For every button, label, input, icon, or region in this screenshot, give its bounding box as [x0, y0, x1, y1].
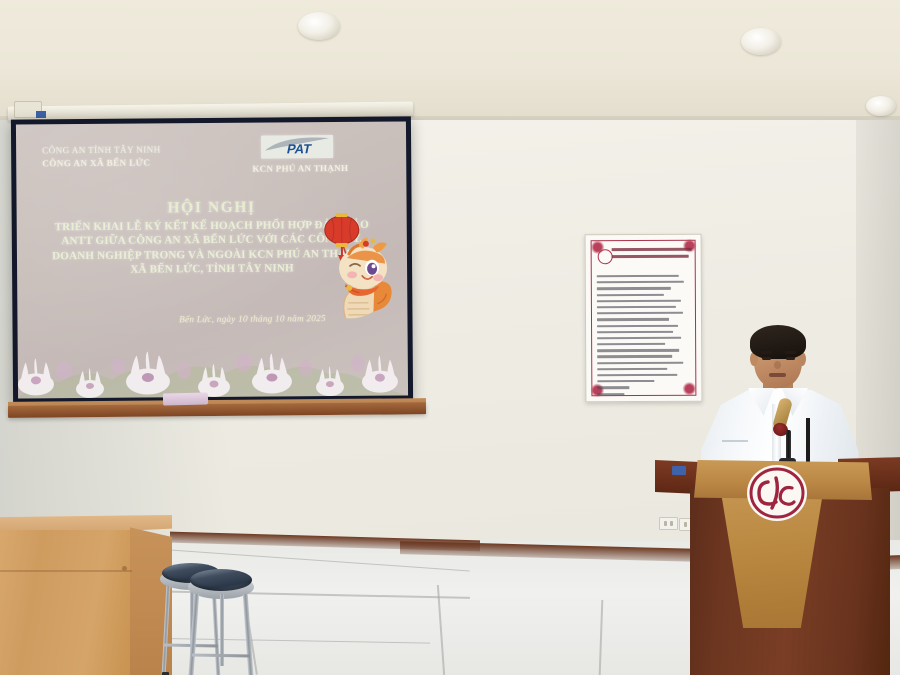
speaker-eye-left	[762, 357, 771, 360]
slide-logo-caption: KCN PHÚ AN THẠNH	[238, 163, 362, 174]
clc-logo-icon	[746, 464, 808, 522]
poster-body-text	[597, 275, 693, 399]
podium-sticker	[672, 466, 686, 475]
conference-room-photo: CÔNG AN TỈNH TÂY NINH CÔNG AN XÃ BẾN LỨC…	[0, 0, 900, 675]
svg-text:PAT: PAT	[286, 141, 313, 156]
lotus-decoration	[18, 323, 409, 398]
roller-label	[36, 111, 46, 118]
shirt-pocket	[722, 440, 748, 442]
desk-drawer-seam	[0, 570, 132, 572]
slide-org-header: CÔNG AN TỈNH TÂY NINH CÔNG AN XÃ BẾN LỨC	[42, 143, 242, 170]
speaker-eye-right	[786, 357, 795, 360]
microphone-rod-secondary	[806, 418, 810, 468]
power-outlet[interactable]	[659, 517, 678, 530]
wooden-desk-front	[0, 530, 132, 675]
desk-knob[interactable]	[122, 566, 127, 571]
poster-title	[612, 248, 692, 261]
speaker-hair	[750, 325, 806, 359]
cleaning-cloth	[163, 392, 208, 405]
speaker-mouth	[769, 373, 786, 377]
speaker-eyebrow-right	[785, 351, 796, 354]
poster-seal-icon	[598, 249, 613, 264]
stool-seat	[190, 569, 252, 591]
pat-logo-icon: PAT	[261, 135, 333, 159]
downlight-icon	[298, 12, 340, 40]
downlight-icon	[866, 96, 896, 116]
downlight-icon	[741, 28, 781, 55]
projected-slide: CÔNG AN TỈNH TÂY NINH CÔNG AN XÃ BẾN LỨC…	[16, 121, 408, 398]
slide-org-line-2: CÔNG AN XÃ BẾN LỨC	[42, 157, 150, 168]
wall-notice-poster	[585, 234, 703, 403]
snake-mascot-icon	[315, 208, 402, 329]
ceiling	[0, 0, 900, 122]
speaker-nose	[774, 361, 781, 369]
projector-screen: CÔNG AN TỈNH TÂY NINH CÔNG AN XÃ BẾN LỨC…	[11, 116, 413, 403]
speaker-eyebrow-left	[761, 351, 772, 354]
